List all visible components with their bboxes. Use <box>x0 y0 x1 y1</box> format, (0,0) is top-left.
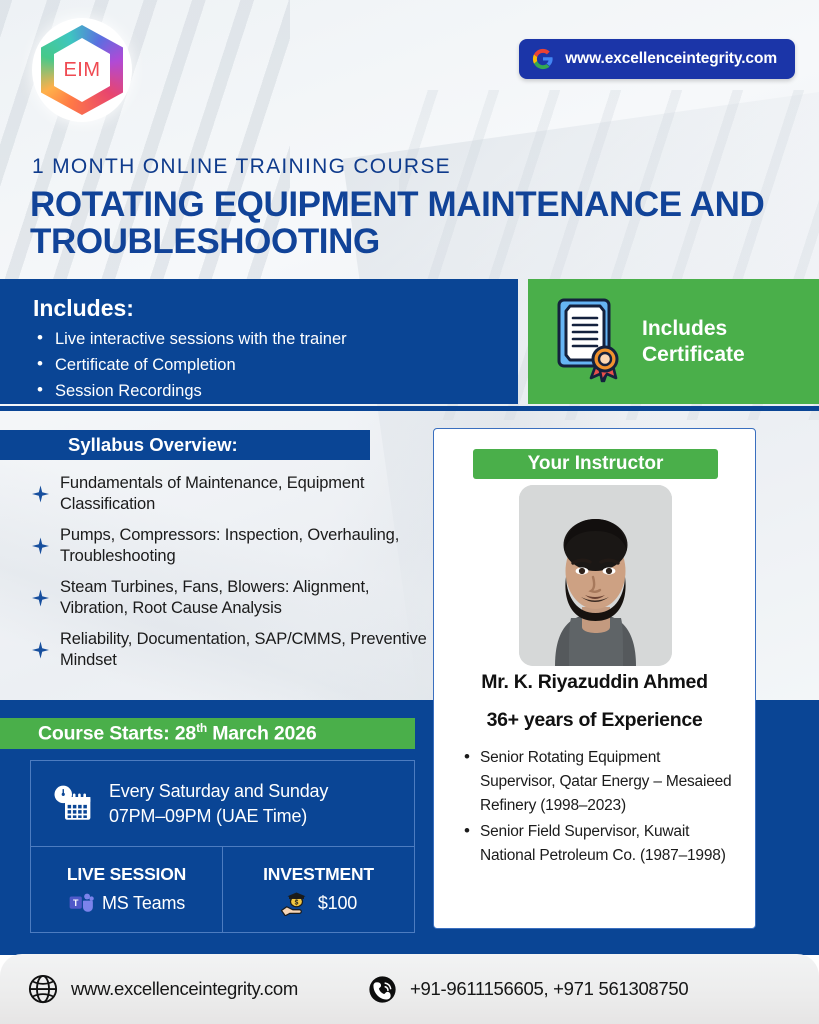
list-item: Senior Field Supervisor, Kuwait National… <box>464 820 736 868</box>
live-session-value-row: T MS Teams <box>68 890 185 916</box>
star-bullet-icon <box>32 642 49 659</box>
schedule-detail-row: LIVE SESSION T MS Teams INVESTMENT <box>31 847 414 933</box>
syllabus-header: Syllabus Overview: <box>0 430 370 460</box>
schedule-time-row: Every Saturday and Sunday 07PM–09PM (UAE… <box>31 761 414 847</box>
syllabus-item-text: Fundamentals of Maintenance, Equipment C… <box>60 474 364 513</box>
schedule-days: Every Saturday and Sunday <box>109 779 328 804</box>
includes-certificate-panel: Includes Certificate <box>528 279 819 404</box>
footer-website[interactable]: www.excellenceintegrity.com <box>28 974 298 1004</box>
hexagon-logo-icon: EIM <box>41 25 123 115</box>
investment-value-row: $ $100 <box>280 890 357 916</box>
list-item: Pumps, Compressors: Inspection, Overhaul… <box>30 525 430 567</box>
certificate-badge-text: Includes Certificate <box>642 316 745 368</box>
instructor-experience: 36+ years of Experience <box>434 709 755 732</box>
footer-website-text: www.excellenceintegrity.com <box>71 978 298 1000</box>
logo-text: EIM <box>63 59 100 82</box>
website-badge-text: www.excellenceintegrity.com <box>565 50 777 68</box>
instructor-card: Your Instructor <box>433 428 756 929</box>
instructor-photo <box>519 485 672 666</box>
footer-phone[interactable]: +91-9611156605, +971 561308750 <box>368 975 688 1004</box>
syllabus-item-text: Steam Turbines, Fans, Blowers: Alignment… <box>60 578 369 617</box>
divider-strip <box>0 406 819 411</box>
list-item: Steam Turbines, Fans, Blowers: Alignment… <box>30 577 430 619</box>
course-start-text: Course Starts: 28th March 2026 <box>38 721 316 746</box>
footer-phone-text: +91-9611156605, +971 561308750 <box>410 978 688 1000</box>
footer-bar: www.excellenceintegrity.com +91-96111566… <box>0 954 819 1024</box>
svg-text:$: $ <box>294 900 298 907</box>
instructor-name: Mr. K. Riyazuddin Ahmed <box>434 671 755 694</box>
list-item: Fundamentals of Maintenance, Equipment C… <box>30 473 430 515</box>
page-title: ROTATING EQUIPMENT MAINTENANCE AND TROUB… <box>30 186 770 260</box>
instructor-badge: Your Instructor <box>473 449 718 479</box>
list-item: Session Recordings <box>36 378 347 404</box>
svg-text:T: T <box>73 898 79 908</box>
star-bullet-icon <box>32 590 49 607</box>
live-session-cell: LIVE SESSION T MS Teams <box>31 847 222 933</box>
includes-panel: Includes: Live interactive sessions with… <box>0 279 518 404</box>
list-item: Live interactive sessions with the train… <box>36 326 347 352</box>
investment-label: INVESTMENT <box>263 864 374 885</box>
star-bullet-icon <box>32 538 49 555</box>
google-icon <box>532 48 554 70</box>
instructor-portrait-illustration <box>519 485 672 666</box>
course-start-ordinal: th <box>196 721 207 735</box>
list-item: Senior Rotating Equipment Supervisor, Qa… <box>464 746 736 818</box>
list-item: Reliability, Documentation, SAP/CMMS, Pr… <box>30 629 430 671</box>
schedule-text: Every Saturday and Sunday 07PM–09PM (UAE… <box>109 779 328 829</box>
certificate-icon <box>550 296 628 388</box>
course-start-prefix: Course Starts: 28 <box>38 723 196 745</box>
list-item: Certificate of Completion <box>36 352 347 378</box>
investment-cell: INVESTMENT $ $100 <box>222 847 414 933</box>
star-bullet-icon <box>32 486 49 503</box>
syllabus-item-text: Reliability, Documentation, SAP/CMMS, Pr… <box>60 630 427 669</box>
ms-teams-icon: T <box>68 890 94 916</box>
instructor-roles-list: Senior Rotating Equipment Supervisor, Qa… <box>464 746 736 870</box>
live-session-value: MS Teams <box>102 893 185 914</box>
live-session-label: LIVE SESSION <box>67 864 186 885</box>
syllabus-title: Syllabus Overview: <box>68 434 238 456</box>
brand-logo: EIM <box>32 18 132 122</box>
course-start-suffix: March 2026 <box>207 723 316 745</box>
syllabus-list: Fundamentals of Maintenance, Equipment C… <box>30 473 430 681</box>
money-hand-icon: $ <box>280 890 310 916</box>
calendar-clock-icon <box>51 783 93 825</box>
investment-value: $100 <box>318 893 357 914</box>
schedule-box: Every Saturday and Sunday 07PM–09PM (UAE… <box>30 760 415 933</box>
instructor-badge-text: Your Instructor <box>528 453 664 475</box>
includes-title: Includes: <box>33 295 134 322</box>
certificate-badge-line2: Certificate <box>642 342 745 368</box>
globe-icon <box>28 974 58 1004</box>
website-badge[interactable]: www.excellenceintegrity.com <box>519 39 795 79</box>
course-start-banner: Course Starts: 28th March 2026 <box>0 718 415 749</box>
syllabus-item-text: Pumps, Compressors: Inspection, Overhaul… <box>60 526 399 565</box>
certificate-badge-line1: Includes <box>642 316 745 342</box>
course-flyer: EIM www.excellenceintegrity.com 1 MONTH … <box>0 0 819 1024</box>
schedule-time: 07PM–09PM (UAE Time) <box>109 804 328 829</box>
includes-list: Live interactive sessions with the train… <box>36 326 347 404</box>
phone-icon <box>368 975 397 1004</box>
course-eyebrow: 1 MONTH ONLINE TRAINING COURSE <box>32 155 451 179</box>
